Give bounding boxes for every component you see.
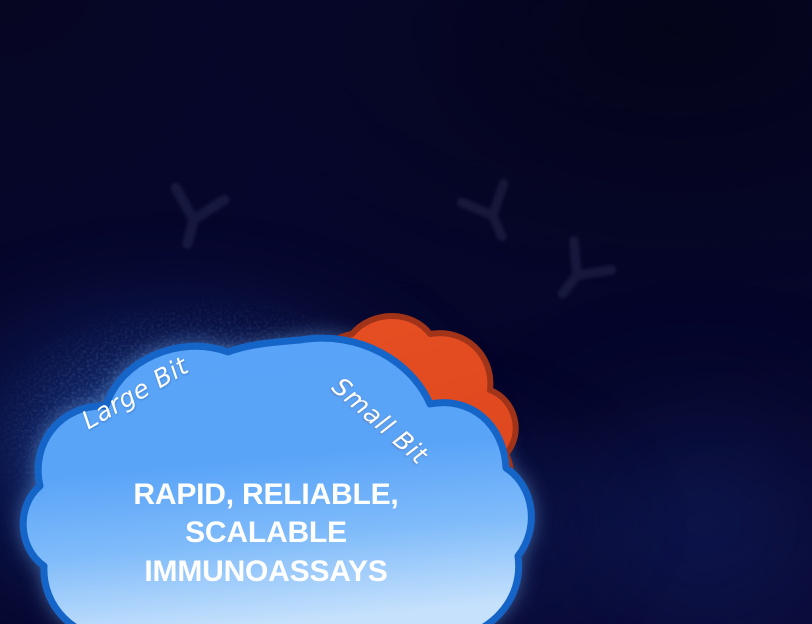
cloud-group	[0, 0, 812, 624]
hero-banner: Large Bit Small Bit RAPID, RELIABLE, SCA…	[0, 0, 812, 624]
